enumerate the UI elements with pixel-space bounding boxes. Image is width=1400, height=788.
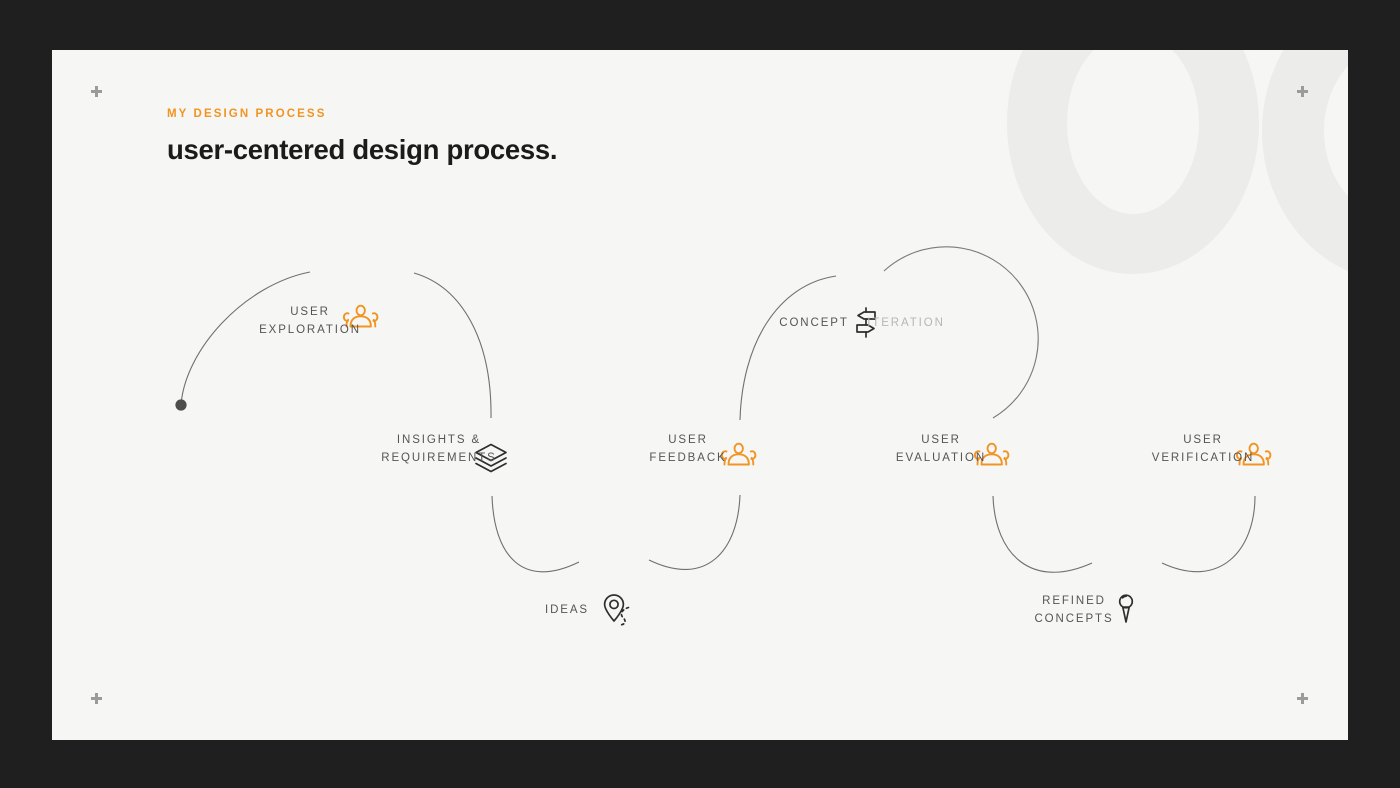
users-icon xyxy=(722,444,755,465)
connector-ideas-to-feedback xyxy=(649,495,740,569)
connector-evaluation-to-refined xyxy=(993,496,1092,572)
map-pin-icon xyxy=(605,595,629,625)
start-dot xyxy=(175,399,186,410)
users-icon xyxy=(344,306,377,327)
users-icon xyxy=(1237,444,1270,465)
connector-exploration-to-insights xyxy=(414,273,491,418)
pushpin-icon xyxy=(1120,595,1133,622)
process-diagram xyxy=(52,50,1348,740)
connector-start-to-exploration xyxy=(181,272,310,405)
signpost-icon xyxy=(857,308,875,337)
presentation-slide: MY DESIGN PROCESS user-centered design p… xyxy=(52,50,1348,740)
connector-iteration-loop xyxy=(884,247,1038,418)
users-icon xyxy=(975,444,1008,465)
connector-insights-to-ideas xyxy=(492,496,579,572)
connector-refined-to-verification xyxy=(1162,496,1255,572)
layers-icon xyxy=(476,445,506,472)
connector-feedback-to-concept xyxy=(740,276,836,420)
screenshot-canvas: MY DESIGN PROCESS user-centered design p… xyxy=(0,0,1400,788)
